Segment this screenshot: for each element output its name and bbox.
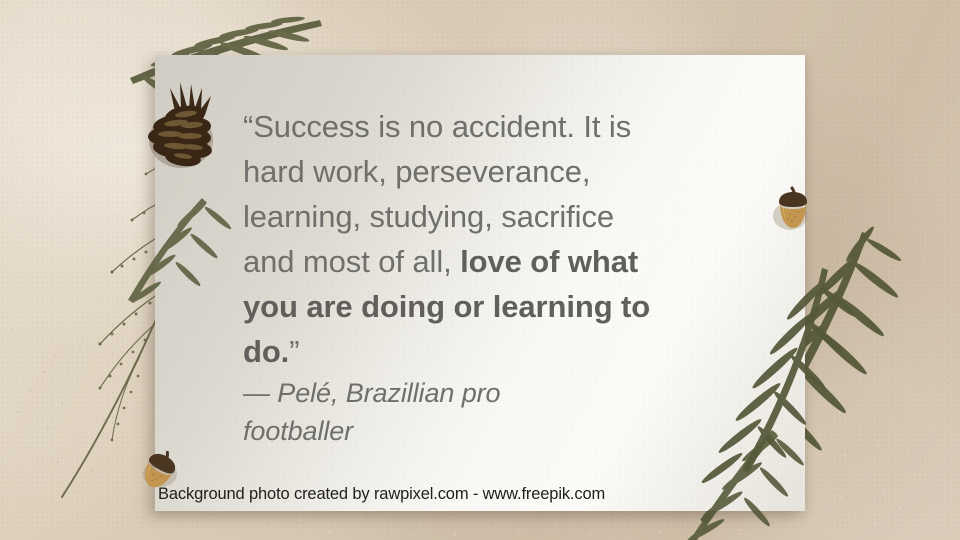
- quote-poster: “Success is no accident. It is hard work…: [0, 0, 960, 540]
- quote-line-5-bold: you are doing or learning to: [243, 289, 650, 324]
- quote-attribution: — Pelé, Brazillian pro footballer: [243, 374, 695, 450]
- quote-line-3: learning, studying, sacrifice: [243, 199, 614, 234]
- quote-line-2: hard work, perseverance,: [243, 154, 590, 189]
- quote-text: “Success is no accident. It is hard work…: [243, 104, 695, 374]
- quote-closing-mark: ”: [289, 334, 299, 369]
- quote-line-6-bold: do.: [243, 334, 289, 369]
- photo-credit: Background photo created by rawpixel.com…: [158, 484, 605, 504]
- quote-line-4-bold: love of what: [460, 244, 638, 279]
- quote-line-1: “Success is no accident. It is: [243, 109, 631, 144]
- attribution-line-1: — Pelé, Brazillian pro: [243, 378, 500, 408]
- attribution-line-2: footballer: [243, 416, 353, 446]
- quote-block: “Success is no accident. It is hard work…: [243, 104, 695, 450]
- quote-card: “Success is no accident. It is hard work…: [155, 55, 805, 511]
- quote-line-4-normal: and most of all,: [243, 244, 460, 279]
